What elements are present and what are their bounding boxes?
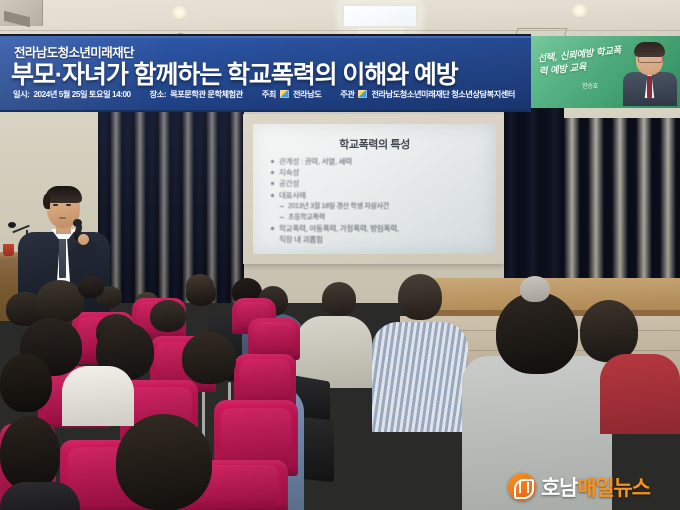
honam-daily-news-logo-icon <box>508 473 536 501</box>
slide-bullet-continuation: 직장 내 괴롭힘 <box>271 234 486 245</box>
audience-head <box>116 414 212 510</box>
projection-screen: 학교폭력의 특성 관계성 : 권력, 서열, 세력 지속성 공간성 대표사례 2… <box>253 124 496 254</box>
audience-head <box>150 300 186 332</box>
ceiling-panel-light <box>341 3 419 29</box>
speaker-mouth <box>59 217 66 219</box>
ceiling-duct <box>0 0 43 26</box>
poster-headline: 선택, 신뢰예방 학교폭력 예방 교육 <box>537 43 631 78</box>
audience-torso <box>372 322 468 432</box>
ceiling-downlight <box>171 6 188 19</box>
photo-scene: 학교폭력의 특성 관계성 : 권력, 서열, 세력 지속성 공간성 대표사례 2… <box>0 0 680 510</box>
podium-mic-head-icon <box>8 222 16 228</box>
watermark-text-part1: 호남 <box>541 477 577 500</box>
poster-speaker-name: 한승호 <box>555 83 625 91</box>
audience-head <box>182 332 236 384</box>
water-cup <box>3 244 14 256</box>
poster-photo-tie <box>647 76 652 98</box>
banner-date-label: 일시: <box>13 88 29 100</box>
poster-speaker-photo <box>622 42 678 106</box>
audience-head <box>78 276 104 298</box>
watermark-text-part2: 매일뉴스 <box>577 477 649 500</box>
audience-head <box>322 282 356 316</box>
audience-head <box>186 274 214 298</box>
banner-place-label: 장소: <box>150 88 166 100</box>
event-banner: 전라남도청소년미래재단 부모·자녀가 함께하는 학교폭력의 이해와 예방 일시:… <box>0 36 531 112</box>
speaker-eye <box>66 204 71 206</box>
slide-sub-bullet: 초등학교폭력 <box>271 212 486 223</box>
banner-organizer-value: 전라남도청소년미래재단 청소년상담복지센터 <box>371 88 514 100</box>
banner-organizer-label: 주관 <box>340 88 354 100</box>
microphone-head-icon <box>73 219 82 227</box>
slide-bullet: 공간성 <box>271 178 486 189</box>
audience-torso <box>0 482 80 510</box>
green-poster: 선택, 신뢰예방 학교폭력 예방 교육 한승호 <box>531 36 680 108</box>
watermark-text: 호남매일뉴스 <box>541 472 650 502</box>
banner-host-value: 전라남도 <box>293 88 321 100</box>
audience-head <box>580 300 638 362</box>
banner-date-value: 2024년 5월 25일 토요일 14:00 <box>33 88 130 100</box>
slide-bullet: 지속성 <box>271 167 486 178</box>
ceiling-downlight <box>571 4 588 17</box>
speaker-hair <box>45 186 82 203</box>
audience-torso <box>62 366 134 426</box>
speaker-hand <box>78 234 89 245</box>
banner-host-label: 주최 <box>262 88 276 100</box>
audience-head-gray <box>520 276 550 302</box>
stage-curtain-right <box>504 108 564 296</box>
audience-head <box>496 292 578 374</box>
audience-head <box>0 354 52 412</box>
poster-photo-glasses-icon <box>638 55 663 63</box>
audience-head <box>398 274 442 320</box>
slide-body: 관계성 : 권력, 서열, 세력 지속성 공간성 대표사례 2013년 3월 1… <box>271 156 486 246</box>
jeonnam-emblem-icon <box>358 90 367 98</box>
slide-sub-bullet: 2013년 3월 18일 경산 학생 자살사건 <box>271 201 486 212</box>
slide-bullet: 관계성 : 권력, 서열, 세력 <box>271 156 486 167</box>
speaker-hair-side <box>43 194 50 209</box>
banner-place-value: 목포문학관 문학체험관 <box>170 88 243 100</box>
audience-head <box>36 280 84 322</box>
slide-bullet: 대표사례 <box>271 190 486 201</box>
banner-info-row: 일시: 2024년 5월 25일 토요일 14:00 장소: 목포문학관 문학체… <box>13 88 525 100</box>
jeonnam-emblem-icon <box>280 90 289 98</box>
audience-torso <box>600 354 680 434</box>
banner-title: 부모·자녀가 함께하는 학교폭력의 이해와 예방 <box>11 55 458 91</box>
slide-bullet: 학교폭력, 아동폭력, 가정폭력, 방임폭력, <box>271 223 486 234</box>
slide-title: 학교폭력의 특성 <box>253 136 496 152</box>
stage-curtain-far-right <box>564 118 680 293</box>
ceiling-seam <box>0 30 680 31</box>
audience-head <box>0 416 60 490</box>
speaker-eye <box>53 204 58 206</box>
watermark: 호남매일뉴스 <box>508 470 676 504</box>
